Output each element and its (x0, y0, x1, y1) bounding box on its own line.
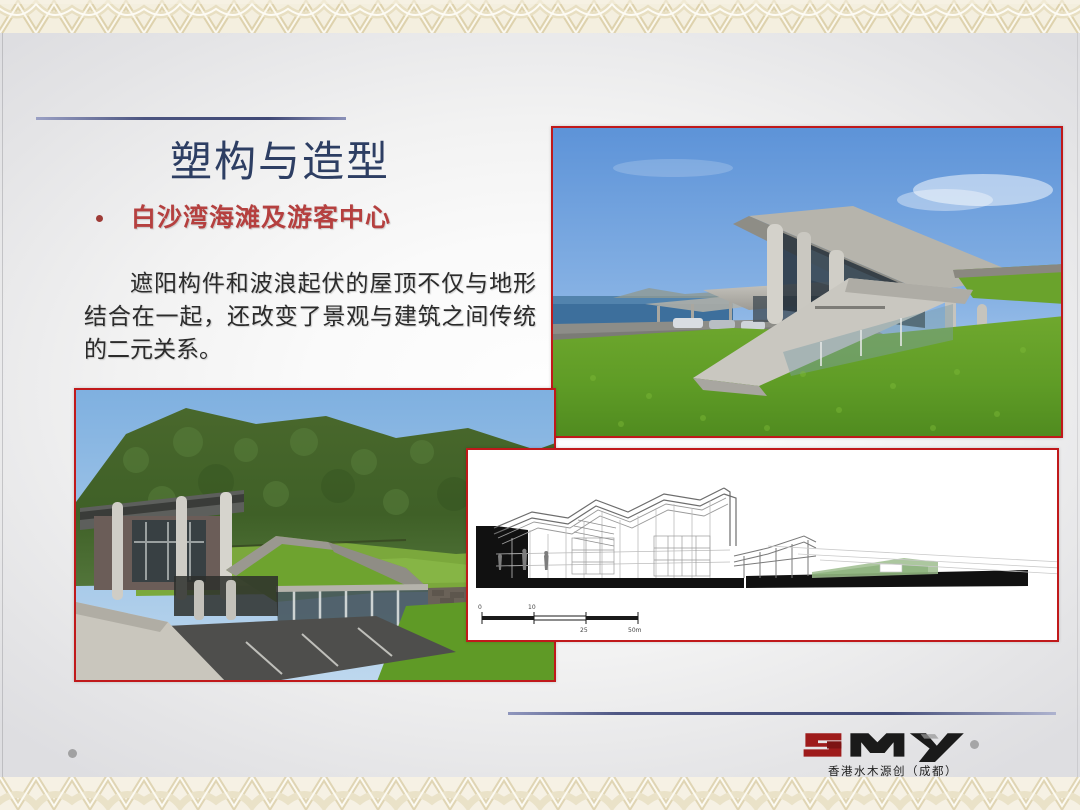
logo-caption: 香港水木源创（成都） (800, 763, 986, 779)
presentation-slide: 塑构与造型 白沙湾海滩及游客中心 遮阳构件和波浪起伏的屋顶不仅与地形结合在一起，… (0, 0, 1080, 810)
visitor-center-exterior-photo (551, 126, 1063, 438)
section-heading: 白沙湾海滩及游客中心 (131, 198, 391, 234)
top-border-pattern (0, 0, 1080, 33)
footer-divider-rule (508, 712, 1056, 715)
svg-text:10: 10 (528, 604, 536, 611)
svg-text:50m: 50m (628, 627, 642, 634)
page-title: 塑构与造型 (40, 128, 520, 189)
logo-dot-accent (970, 740, 979, 749)
right-edge-rule (1077, 33, 1078, 777)
bottom-border-pattern (0, 777, 1080, 810)
svg-text:25: 25 (580, 627, 588, 634)
building-section-drawing: 0 10 25 50m (466, 448, 1059, 642)
svg-text:0: 0 (478, 604, 482, 611)
bullet-heading-row: 白沙湾海滩及游客中心 (96, 198, 391, 234)
footer-corner-dot (68, 749, 77, 758)
smy-logo-icon (800, 726, 967, 762)
company-logo: 香港水木源创（成都） (800, 726, 986, 779)
title-underline-rule (36, 117, 346, 120)
body-paragraph: 遮阳构件和波浪起伏的屋顶不仅与地形结合在一起，还改变了景观与建筑之间传统的二元关… (84, 268, 536, 367)
left-edge-rule (2, 33, 3, 777)
bullet-dot-icon (96, 215, 103, 222)
